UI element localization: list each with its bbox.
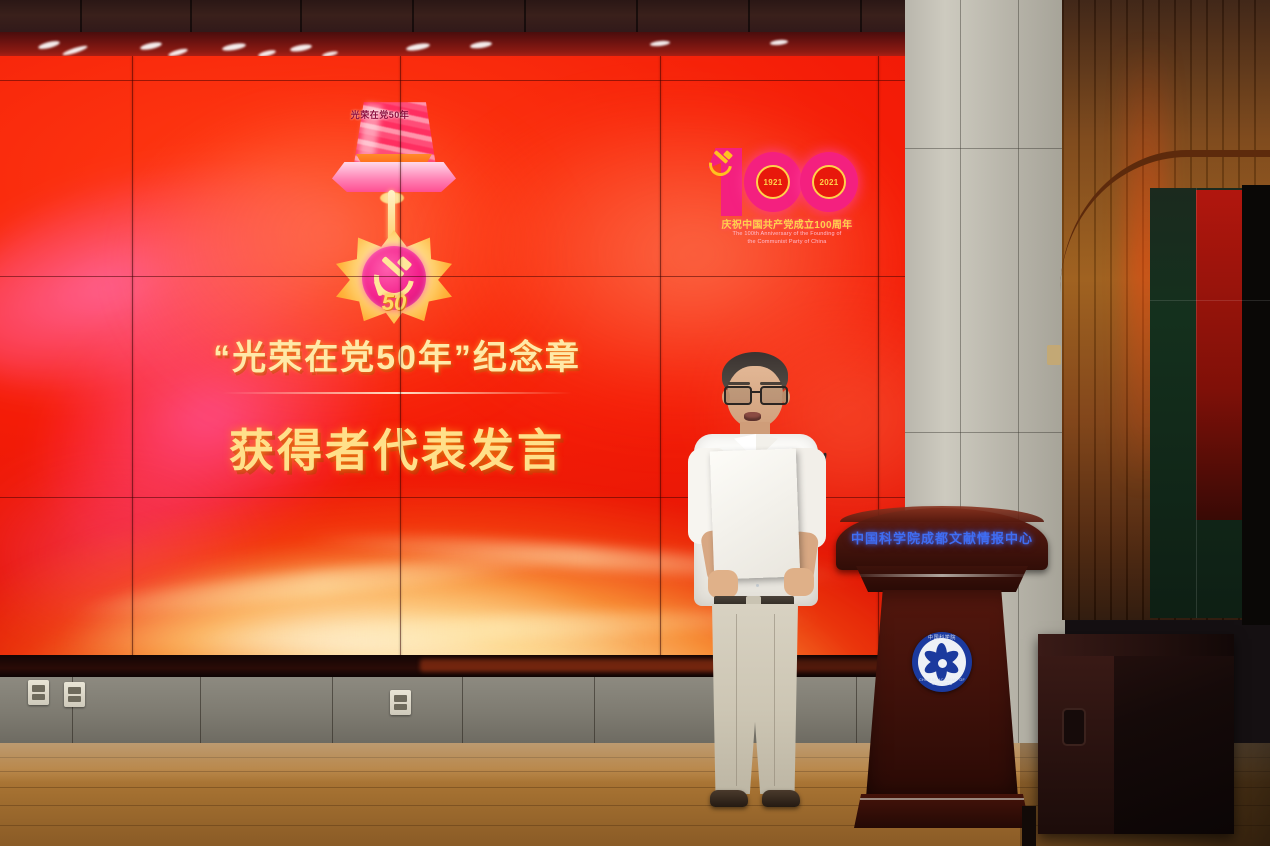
panel-seam-vertical [400, 56, 401, 663]
panel-seam-vertical [660, 56, 661, 663]
medal-banner [332, 162, 456, 192]
ceiling-seam [860, 0, 862, 34]
logo-digit-zero-second: 2021 [800, 152, 858, 212]
logo-caption-en-line1: The 100th Anniversary of the Founding of [733, 231, 842, 237]
glass-reflection-red [1196, 190, 1244, 520]
lamp-reflection [62, 44, 88, 57]
ceiling-seam [524, 0, 526, 34]
screen-title-line2: 获得者代表发言 [182, 414, 612, 479]
person-hand-right [784, 568, 814, 596]
podium-top-edge [840, 506, 1044, 522]
medal-years-badge: 50 [358, 290, 430, 316]
anniversary-100-logo: 1921 2021 庆祝中国共产党成立100周年 The 100th Anniv… [702, 144, 872, 254]
cas-emblem-text-en: CHINESE ACADEMY OF SCIENCES [912, 678, 972, 686]
screen-title-line1: “光荣在党50年”纪念章 [182, 330, 612, 379]
videowall-top-bezel [0, 32, 960, 58]
lamp-reflection [38, 39, 61, 50]
glass-seam [1196, 188, 1197, 618]
trouser-crease [774, 614, 775, 786]
wall-panel-seam [905, 148, 1065, 149]
logo-year-start: 1921 [764, 178, 783, 187]
subwoofer-top [1038, 634, 1234, 656]
lamp-reflection [140, 41, 163, 51]
cas-emblem-center [937, 658, 948, 669]
wall-panel-seam [200, 677, 201, 743]
lectern-podium: 中国科学院成都文献情报中心 中国科学院 CHINESE ACADEMY OF S… [836, 498, 1048, 846]
person-hand-left [708, 570, 738, 598]
logo-100-number: 1921 2021 [702, 144, 872, 222]
wall-panel-seam [462, 677, 463, 743]
glass-seam [1150, 300, 1270, 301]
ceremony-photo: 光荣在党50年 50 1921 2021 [0, 0, 1270, 846]
lamp-reflection [222, 42, 247, 52]
logo-year-end: 2021 [820, 178, 839, 187]
lamp-reflection [406, 42, 431, 52]
anniversary-medal-graphic: 光荣在党50年 50 [318, 102, 468, 324]
panel-seam-vertical [132, 56, 133, 663]
trouser-crease [736, 614, 737, 786]
ceiling-seam [636, 0, 638, 34]
glass-panel-dark [1242, 185, 1270, 625]
person-shoe-left [710, 790, 748, 807]
podium-base-trim [860, 798, 1024, 800]
lamp-reflection [770, 39, 788, 46]
wall-outlet-right[interactable] [1047, 345, 1061, 365]
logo-caption-en-line2: the Communist Party of China [748, 239, 827, 245]
podium-neck [856, 566, 1028, 592]
wall-panel-seam [594, 677, 595, 743]
ceiling-seam [80, 0, 82, 34]
subwoofer-handle[interactable] [1062, 708, 1086, 746]
person-eyebrow [728, 382, 750, 385]
logo-caption-english: The 100th Anniversary of the Founding of… [702, 230, 872, 247]
podium-sign-text: 中国科学院成都文献情报中心 [836, 528, 1048, 547]
speech-paper [710, 449, 800, 580]
lamp-reflection [470, 40, 493, 49]
logo-digit-zero-first: 1921 [744, 152, 802, 212]
wall-panel-seam [332, 677, 333, 743]
ceiling-seam [748, 0, 750, 34]
lamp-reflection [290, 43, 313, 53]
panel-seam-horizontal [0, 276, 944, 277]
bezel-reflection [420, 659, 720, 672]
podium-body [866, 590, 1018, 798]
speaker-stand [1022, 806, 1036, 846]
person-eyebrow [760, 382, 782, 385]
person-mouth [744, 412, 761, 421]
person-trousers [712, 604, 798, 794]
ceiling-seam [412, 0, 414, 34]
cas-emblem-text-cn: 中国科学院 [912, 634, 972, 641]
wall-panel-seam [905, 432, 1065, 433]
party-emblem-icon [708, 150, 734, 176]
panel-seam-horizontal [0, 80, 944, 81]
speaker-person [688, 352, 838, 832]
person-shoe-right [762, 790, 800, 807]
wall-outlet[interactable] [390, 690, 411, 715]
eyeglasses-icon [724, 386, 786, 401]
screen-title-divider [222, 392, 572, 394]
ceiling-seam [300, 0, 302, 34]
wall-outlet[interactable] [28, 680, 49, 705]
logo-caption-chinese: 庆祝中国共产党成立100周年 [702, 216, 872, 231]
wall-outlet[interactable] [64, 682, 85, 707]
medal-banner-text: 光荣在党50年 [318, 108, 442, 121]
ceiling-seam [190, 0, 192, 34]
lamp-reflection [650, 40, 670, 47]
podium-trim-strip [860, 574, 1024, 577]
